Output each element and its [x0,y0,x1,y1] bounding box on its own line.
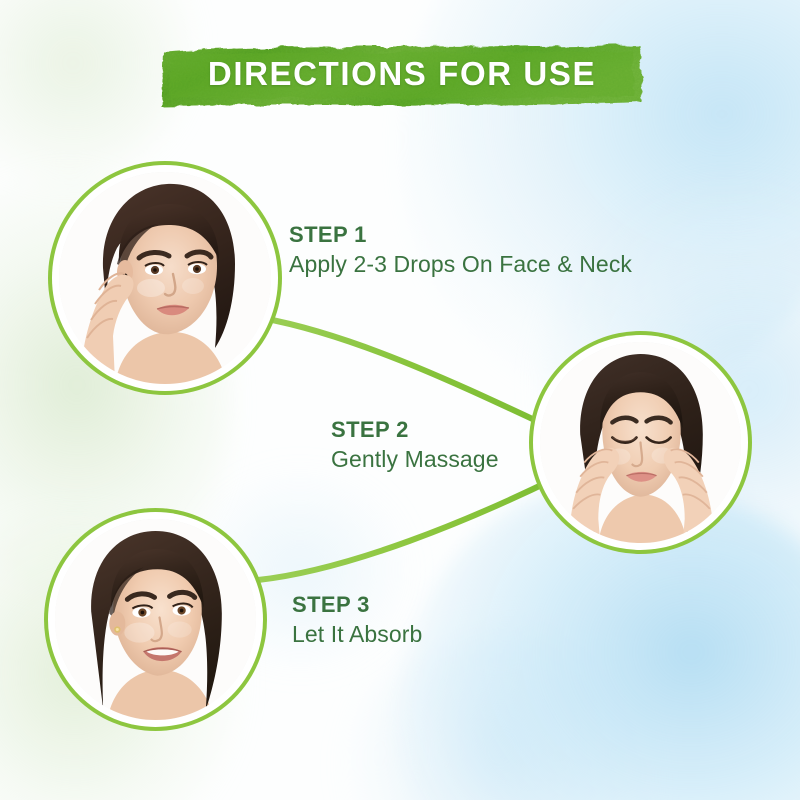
step-3-label: STEP 3 [292,592,422,617]
step-3-description: Let It Absorb [292,620,422,649]
step-3-photo [55,519,256,720]
step-2-description: Gently Massage [331,445,499,474]
step-2-photo [540,342,741,543]
step-2-text-block: STEP 2 Gently Massage [331,417,499,475]
step-1-label: STEP 1 [289,222,632,247]
step-2-label: STEP 2 [331,417,499,442]
infographic-canvas: DIRECTIONS FOR USE [0,0,800,800]
connector-step3-to-step2 [258,478,556,580]
page-title: DIRECTIONS FOR USE [158,40,646,110]
step-3-photo-frame [55,519,256,720]
step-2-photo-frame [540,342,741,543]
step-1-photo-circle [52,165,278,391]
step-2-photo-circle [533,335,748,550]
connector-step1-to-step2 [262,318,556,430]
step-1-photo [59,172,271,384]
step-1-text-block: STEP 1 Apply 2-3 Drops On Face & Neck [289,222,632,280]
step-1-description: Apply 2-3 Drops On Face & Neck [289,250,632,279]
step-3-text-block: STEP 3 Let It Absorb [292,592,422,650]
step-1-photo-frame [59,172,271,384]
step-3-photo-circle [48,512,263,727]
page-title-banner: DIRECTIONS FOR USE [158,40,646,110]
